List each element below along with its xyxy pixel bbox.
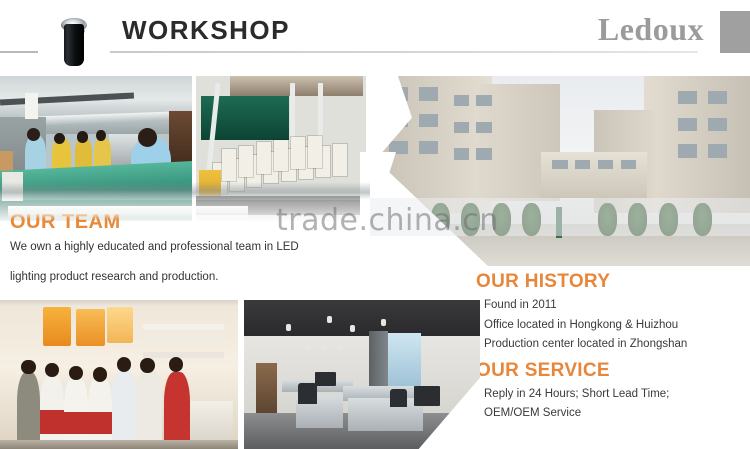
photo-row-bottom — [0, 300, 480, 449]
our-team-line-2: lighting product research and production… — [10, 271, 370, 284]
brand-logo-text: Ledoux — [598, 13, 704, 45]
page-header: WORKSHOP Ledoux — [0, 0, 750, 74]
our-service-line-1: Reply in 24 Hours; Short Lead Time; — [484, 388, 750, 401]
our-history-heading: OUR HISTORY — [476, 272, 750, 292]
our-team-line-1: We own a highly educated and professiona… — [10, 241, 370, 254]
header-rule-right — [110, 51, 698, 53]
header-rule-left — [0, 51, 38, 53]
our-team-heading: OUR TEAM — [10, 212, 370, 232]
our-history-section: OUR HISTORY Found in 2011 Office located… — [476, 272, 750, 351]
led-downlight-icon — [58, 12, 90, 68]
workshop-company-profile-banner: WORKSHOP Ledoux — [0, 0, 750, 449]
page-title: WORKSHOP — [122, 17, 290, 43]
our-history-line-1: Found in 2011 — [484, 299, 750, 312]
our-team-section: OUR TEAM We own a highly educated and pr… — [10, 212, 370, 283]
company-info-column: OUR HISTORY Found in 2011 Office located… — [476, 272, 750, 420]
our-history-line-3: Production center located in Zhongshan — [484, 338, 750, 351]
our-service-heading: OUR SERVICE — [476, 361, 750, 381]
our-service-section: OUR SERVICE Reply in 24 Hours; Short Lea… — [476, 361, 750, 420]
our-history-line-2: Office located in Hongkong & Huizhou — [484, 319, 750, 332]
team-group-photo — [0, 300, 238, 449]
our-service-line-2: OEM/OEM Service — [484, 407, 750, 420]
office-interior-photo — [244, 300, 480, 449]
brand-accent-block — [720, 11, 750, 53]
